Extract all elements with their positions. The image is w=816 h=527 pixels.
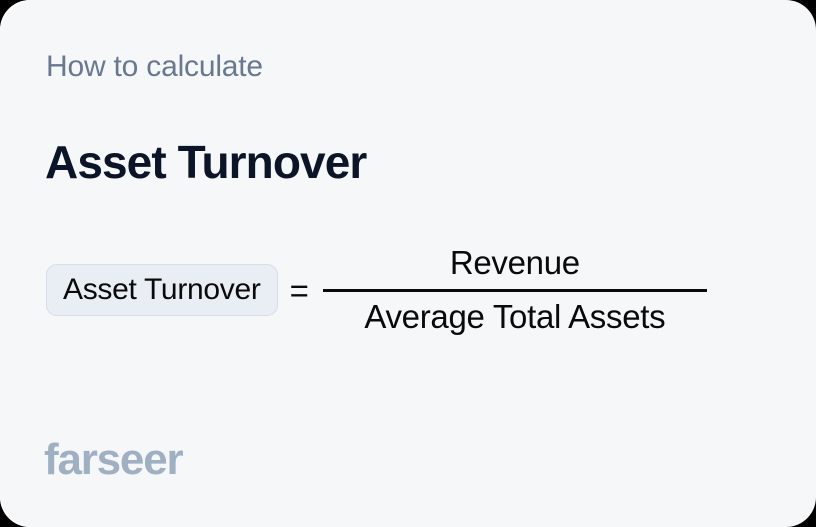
info-card: How to calculate Asset Turnover Asset Tu…: [0, 0, 816, 527]
formula-result-term-label: Asset Turnover: [63, 273, 261, 307]
eyebrow-label: How to calculate: [46, 50, 263, 84]
formula-fraction: Revenue Average Total Assets: [323, 243, 707, 337]
fraction-bar: [323, 289, 707, 292]
page-title: Asset Turnover: [45, 135, 366, 189]
formula-expression: Asset Turnover = Revenue Average Total A…: [46, 236, 707, 344]
formula-result-term-box: Asset Turnover: [46, 264, 278, 316]
card-content: How to calculate Asset Turnover Asset Tu…: [0, 0, 816, 527]
fraction-numerator: Revenue: [446, 243, 584, 285]
fraction-denominator: Average Total Assets: [360, 295, 669, 337]
equals-sign: =: [290, 274, 309, 307]
farseer-logo: farseer: [44, 438, 182, 482]
